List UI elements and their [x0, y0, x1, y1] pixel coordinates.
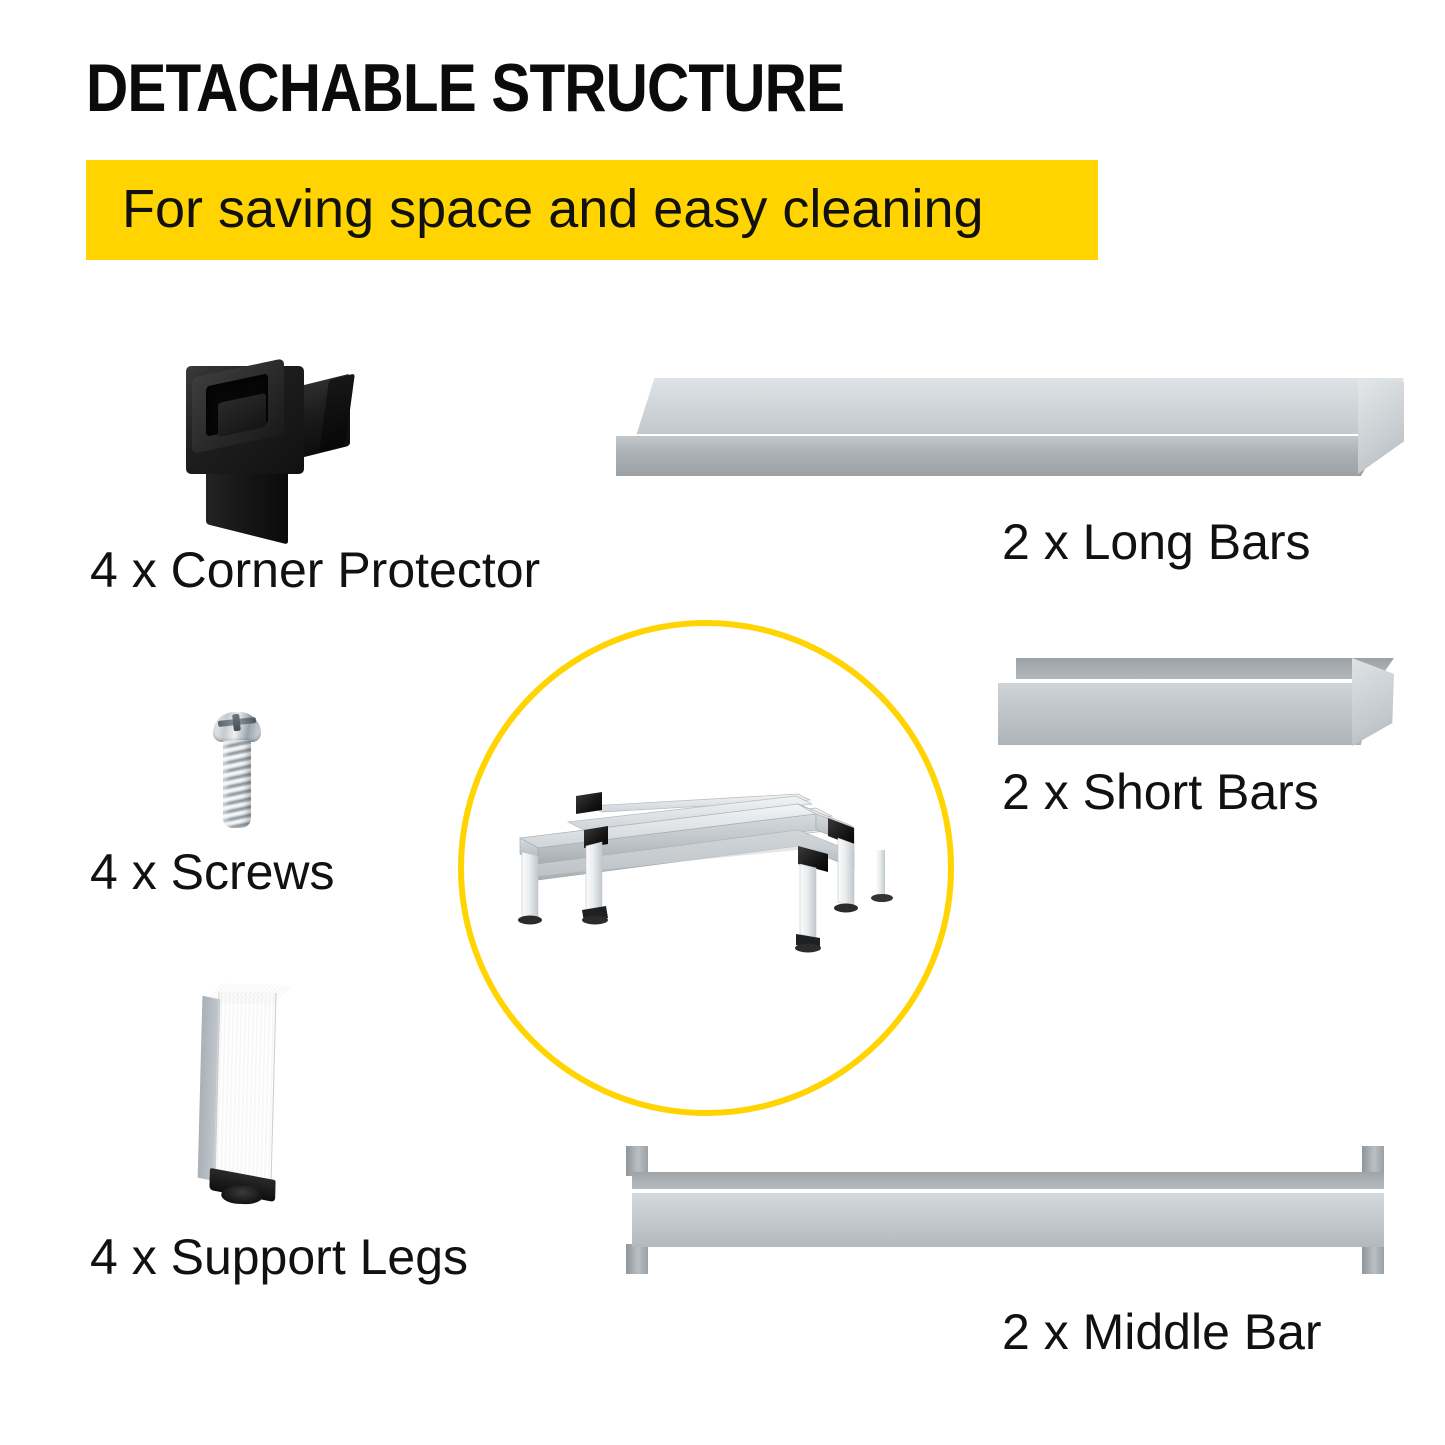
subtitle-banner: For saving space and easy cleaning — [86, 160, 1098, 260]
rack-corner-protector-back-left — [576, 792, 602, 814]
corner-protector-label: 4 x Corner Protector — [90, 542, 540, 598]
short-bars-label: 2 x Short Bars — [1002, 764, 1319, 820]
long-bars-label: 2 x Long Bars — [1002, 514, 1311, 570]
short-bar-front-face — [998, 683, 1376, 745]
short-bar-top-face — [1016, 658, 1394, 680]
screw-head — [213, 712, 261, 742]
page-title: DETACHABLE STRUCTURE — [86, 52, 844, 124]
support-leg-icon — [195, 977, 293, 1201]
screw-slot-vertical — [232, 714, 241, 732]
screws-label: 4 x Screws — [90, 844, 335, 900]
infographic-page: DETACHABLE STRUCTURE For saving space an… — [0, 0, 1445, 1445]
support-leg-front-face — [213, 991, 276, 1188]
screw-threaded-shaft — [223, 740, 251, 828]
short-bar-end-cap — [1352, 658, 1394, 746]
screw-icon — [213, 712, 261, 830]
long-bar-top-face — [636, 378, 1404, 436]
middle-bar-flange-bottom-right — [1362, 1244, 1384, 1274]
dunnage-rack-icon — [498, 782, 924, 962]
middle-bar-icon — [600, 1130, 1400, 1292]
middle-bar-label: 2 x Middle Bar — [1002, 1304, 1322, 1360]
long-bar-end-cap — [1358, 378, 1404, 474]
subtitle-text: For saving space and easy cleaning — [122, 180, 984, 238]
support-leg-foot-pad — [221, 1185, 263, 1204]
short-bar-icon — [998, 658, 1394, 750]
middle-bar-front-face — [632, 1193, 1384, 1247]
long-bar-icon — [616, 378, 1404, 478]
middle-bar-flange-bottom-left — [626, 1244, 648, 1274]
corner-protector-icon — [172, 358, 352, 523]
dunnage-rack-drawing — [498, 782, 924, 962]
middle-bar-top-face — [632, 1172, 1384, 1190]
rack-leg-front-right — [795, 864, 821, 953]
support-legs-label: 4 x Support Legs — [90, 1229, 468, 1285]
short-bar-edge-seam — [998, 679, 1390, 683]
rack-leg-back-right — [871, 850, 893, 902]
long-bar-front-face — [616, 436, 1384, 476]
